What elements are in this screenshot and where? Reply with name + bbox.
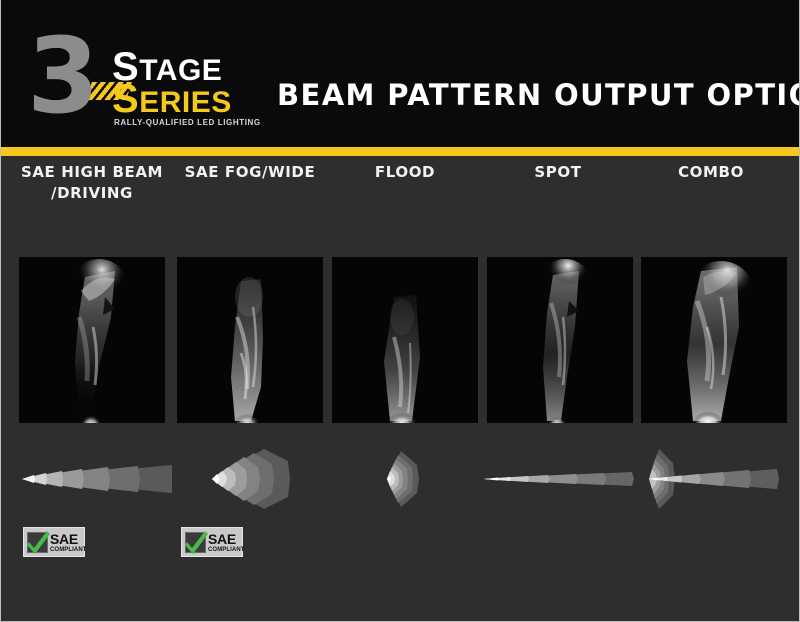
logo-stage-rest: TAGE xyxy=(139,54,222,87)
beam-diagram-combo xyxy=(631,444,791,514)
header-bar: 3 STAGE SERIES RALLY-QUALIFIED LED LIGHT… xyxy=(1,0,800,147)
sae-badge-text: SAE COMPLIANT xyxy=(208,532,245,553)
column-label-line1: SAE HIGH BEAM xyxy=(12,162,172,183)
beam-diagram-spot xyxy=(478,444,638,514)
sae-compliant-badge-fog-wide: SAE COMPLIANT xyxy=(181,527,243,557)
sae-badge-text: SAE COMPLIANT xyxy=(50,532,87,553)
green-check-icon xyxy=(27,532,48,553)
sae-badge-sub: COMPLIANT xyxy=(50,547,87,553)
page-title: BEAM PATTERN OUTPUT OPTIONS xyxy=(277,78,787,112)
column-spot: SPOT xyxy=(478,162,638,183)
logo-series-cap: S xyxy=(112,77,139,121)
beam-photo-combo xyxy=(641,257,787,423)
column-sae-fog-wide: SAE FOG/WIDE xyxy=(170,162,330,183)
column-label-line1: FLOOD xyxy=(325,162,485,183)
beam-diagram-flood xyxy=(325,444,485,514)
sae-badge-main: SAE xyxy=(208,532,245,546)
logo-word-series: SERIES xyxy=(112,84,232,118)
column-flood: FLOOD xyxy=(325,162,485,183)
beam-diagram-sae-high-beam-driving xyxy=(12,444,172,514)
logo-series-rest: ERIES xyxy=(139,86,232,119)
column-combo: COMBO xyxy=(631,162,791,183)
beam-photo-spot xyxy=(487,257,633,423)
beam-pattern-infographic: 3 STAGE SERIES RALLY-QUALIFIED LED LIGHT… xyxy=(0,0,800,622)
accent-divider xyxy=(1,147,800,156)
beam-photo-flood xyxy=(332,257,478,423)
column-label-line1: SAE FOG/WIDE xyxy=(170,162,330,183)
beam-photo-sae-fog-wide xyxy=(177,257,323,423)
logo-numeral-3: 3 xyxy=(27,26,93,126)
diode-dynamics-stage-series-logo: 3 STAGE SERIES RALLY-QUALIFIED LED LIGHT… xyxy=(27,26,237,126)
column-sae-high-beam-driving: SAE HIGH BEAM /DRIVING xyxy=(12,162,172,204)
column-label-line1: COMBO xyxy=(631,162,791,183)
column-label-line1: SPOT xyxy=(478,162,638,183)
beam-photo-sae-high-beam-driving xyxy=(19,257,165,423)
logo-tagline: RALLY-QUALIFIED LED LIGHTING xyxy=(114,118,261,127)
column-label-line2: /DRIVING xyxy=(12,183,172,204)
sae-badge-main: SAE xyxy=(50,532,87,546)
sae-compliant-badge-high-beam: SAE COMPLIANT xyxy=(23,527,85,557)
green-check-icon xyxy=(185,532,206,553)
sae-badge-sub: COMPLIANT xyxy=(208,547,245,553)
beam-diagram-sae-fog-wide xyxy=(170,444,330,514)
